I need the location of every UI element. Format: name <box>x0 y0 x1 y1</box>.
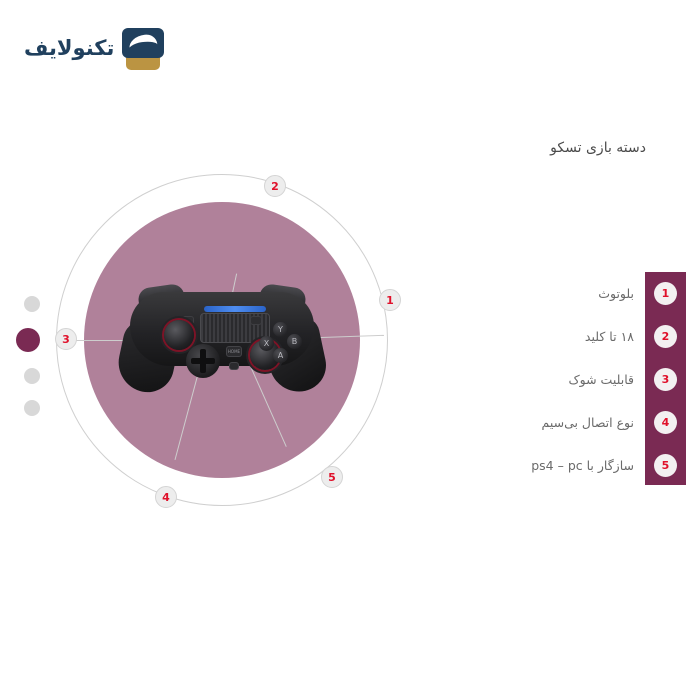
spec-number-1: 1 <box>654 282 677 305</box>
spec-label-1: بلوتوث <box>598 286 634 301</box>
spec-number-2: 2 <box>654 325 677 348</box>
spec-number-5: 5 <box>654 454 677 477</box>
spec-row-4: 4 نوع اتصال بی‌سیم <box>0 401 686 444</box>
callout-badge-2[interactable]: 2 <box>264 175 286 197</box>
spec-label-2: ۱۸ تا کلید <box>585 329 634 344</box>
technolife-logo-icon <box>122 26 164 70</box>
spec-row-3: 3 قابلیت شوک <box>0 358 686 401</box>
spec-number-4: 4 <box>654 411 677 434</box>
spec-row-2: 2 ۱۸ تا کلید <box>0 315 686 358</box>
callout-badge-4[interactable]: 4 <box>155 486 177 508</box>
product-infographic: تکنولایف 1 2 3 4 5 Y B X <box>0 0 686 686</box>
spec-number-3: 3 <box>654 368 677 391</box>
product-title: دسته بازی تسکو <box>550 140 646 156</box>
spec-label-3: قابلیت شوک <box>568 372 634 387</box>
spec-row-5: 5 سازگار با ps4 – pc <box>0 444 686 487</box>
spec-label-4: نوع اتصال بی‌سیم <box>542 415 635 430</box>
spec-label-5: سازگار با ps4 – pc <box>531 458 634 473</box>
spec-row-1: 1 بلوتوث <box>0 272 686 315</box>
spec-list: 1 بلوتوث 2 ۱۸ تا کلید 3 قابلیت شوک 4 نوع… <box>0 272 686 485</box>
brand-logo[interactable]: تکنولایف <box>24 24 164 72</box>
brand-name: تکنولایف <box>24 38 114 59</box>
